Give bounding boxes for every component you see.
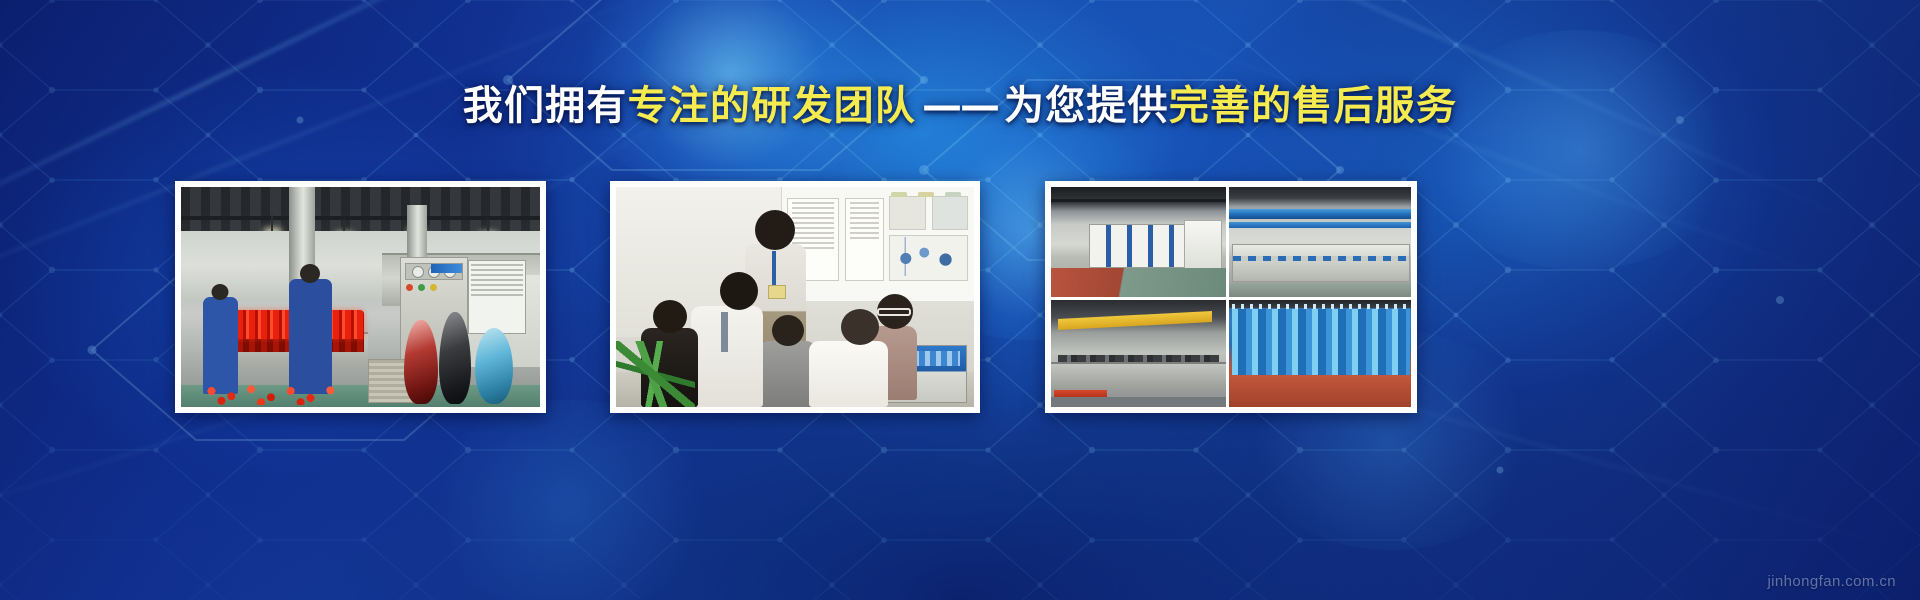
headline-segment-4: 为您提供	[1004, 83, 1169, 129]
photo-equipment-collage-image	[1051, 187, 1411, 407]
photo-production-line[interactable]	[175, 181, 546, 413]
photo-production-line-image	[181, 187, 540, 407]
headline-segment-1: 我们拥有	[463, 83, 628, 129]
promo-banner: 我们拥有专注的研发团队——为您提供完善的售后服务	[0, 0, 1920, 600]
headline-separator-dash: ——	[916, 83, 1004, 129]
banner-headline: 我们拥有专注的研发团队——为您提供完善的售后服务	[0, 82, 1920, 131]
collage-cell-workshop-corridor	[1051, 187, 1226, 297]
headline-segment-2: 专注的研发团队	[628, 83, 916, 129]
vase-red	[404, 320, 438, 404]
photo-team-meeting-image	[616, 187, 974, 407]
collage-cell-conveyor	[1051, 300, 1226, 407]
photo-equipment-collage[interactable]	[1045, 181, 1417, 413]
collage-cell-coating-rack	[1229, 300, 1411, 407]
headline-segment-5: 完善的	[1169, 83, 1293, 129]
photo-gallery	[0, 181, 1920, 413]
photo-team-meeting[interactable]	[610, 181, 980, 413]
headline-segment-6: 售后服务	[1292, 83, 1457, 129]
site-watermark: jinhongfan.com.cn	[1767, 573, 1896, 590]
collage-cell-piping-hall	[1229, 187, 1411, 297]
